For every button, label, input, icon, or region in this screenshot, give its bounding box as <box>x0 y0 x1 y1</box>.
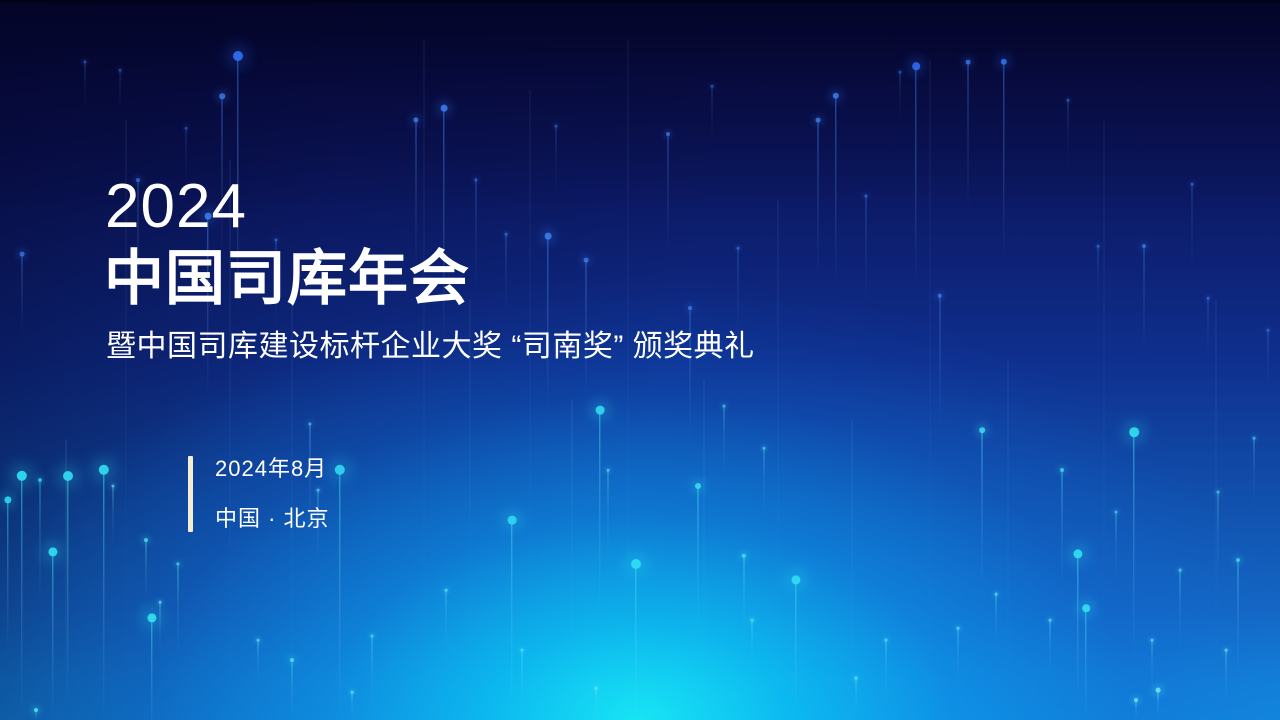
event-meta: 2024年8月 中国 · 北京 <box>188 456 330 532</box>
event-date: 2024年8月 <box>215 456 330 480</box>
event-meta-lines: 2024年8月 中国 · 北京 <box>193 456 330 532</box>
page-title: 中国司库年会 <box>104 247 470 312</box>
subtitle: 暨中国司库建设标杆企业大奖 “司南奖” 颁奖典礼 <box>106 330 755 364</box>
title-slide: 2024 中国司库年会 暨中国司库建设标杆企业大奖 “司南奖” 颁奖典礼 202… <box>0 0 1280 720</box>
event-location: 中国 · 北京 <box>215 508 330 532</box>
year-heading: 2024 <box>105 176 247 238</box>
